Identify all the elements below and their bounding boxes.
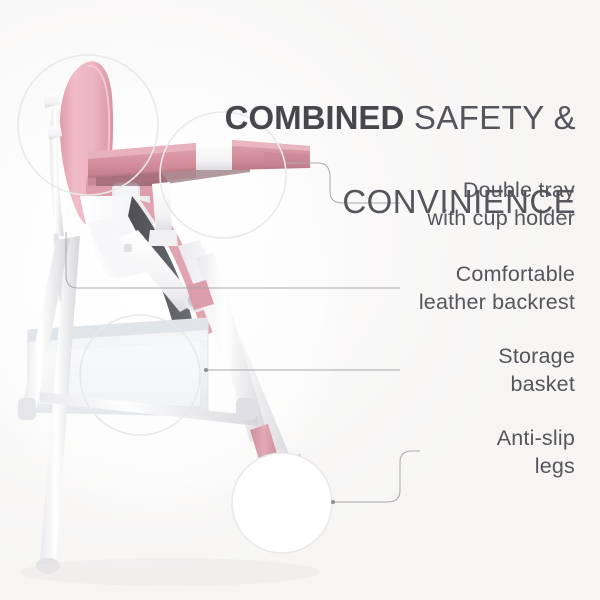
title-line-1: COMBINED SAFETY & [200, 97, 576, 139]
infographic-canvas: COMBINED SAFETY & CONVINIENCE Double tra… [0, 0, 600, 600]
feature-label-storage-basket: Storage basket [498, 342, 575, 398]
leader-line-backrest [66, 232, 78, 288]
leader-dot-legs [331, 500, 335, 504]
leader-line-legs [333, 451, 420, 502]
highlight-ring-basket [80, 315, 200, 435]
feature-label-leather-backrest: Comfortable leather backrest [419, 260, 575, 316]
title-strong: COMBINED [225, 99, 405, 136]
feature-label-anti-slip-legs: Anti-slip legs [497, 424, 575, 480]
title-rest: SAFETY & [404, 99, 576, 136]
leader-dot-basket [204, 368, 208, 372]
highlight-ring-backrest [18, 55, 158, 195]
feature-label-double-tray: Double tray with cup holder [427, 176, 575, 232]
page-title: COMBINED SAFETY & CONVINIENCE [200, 55, 576, 265]
